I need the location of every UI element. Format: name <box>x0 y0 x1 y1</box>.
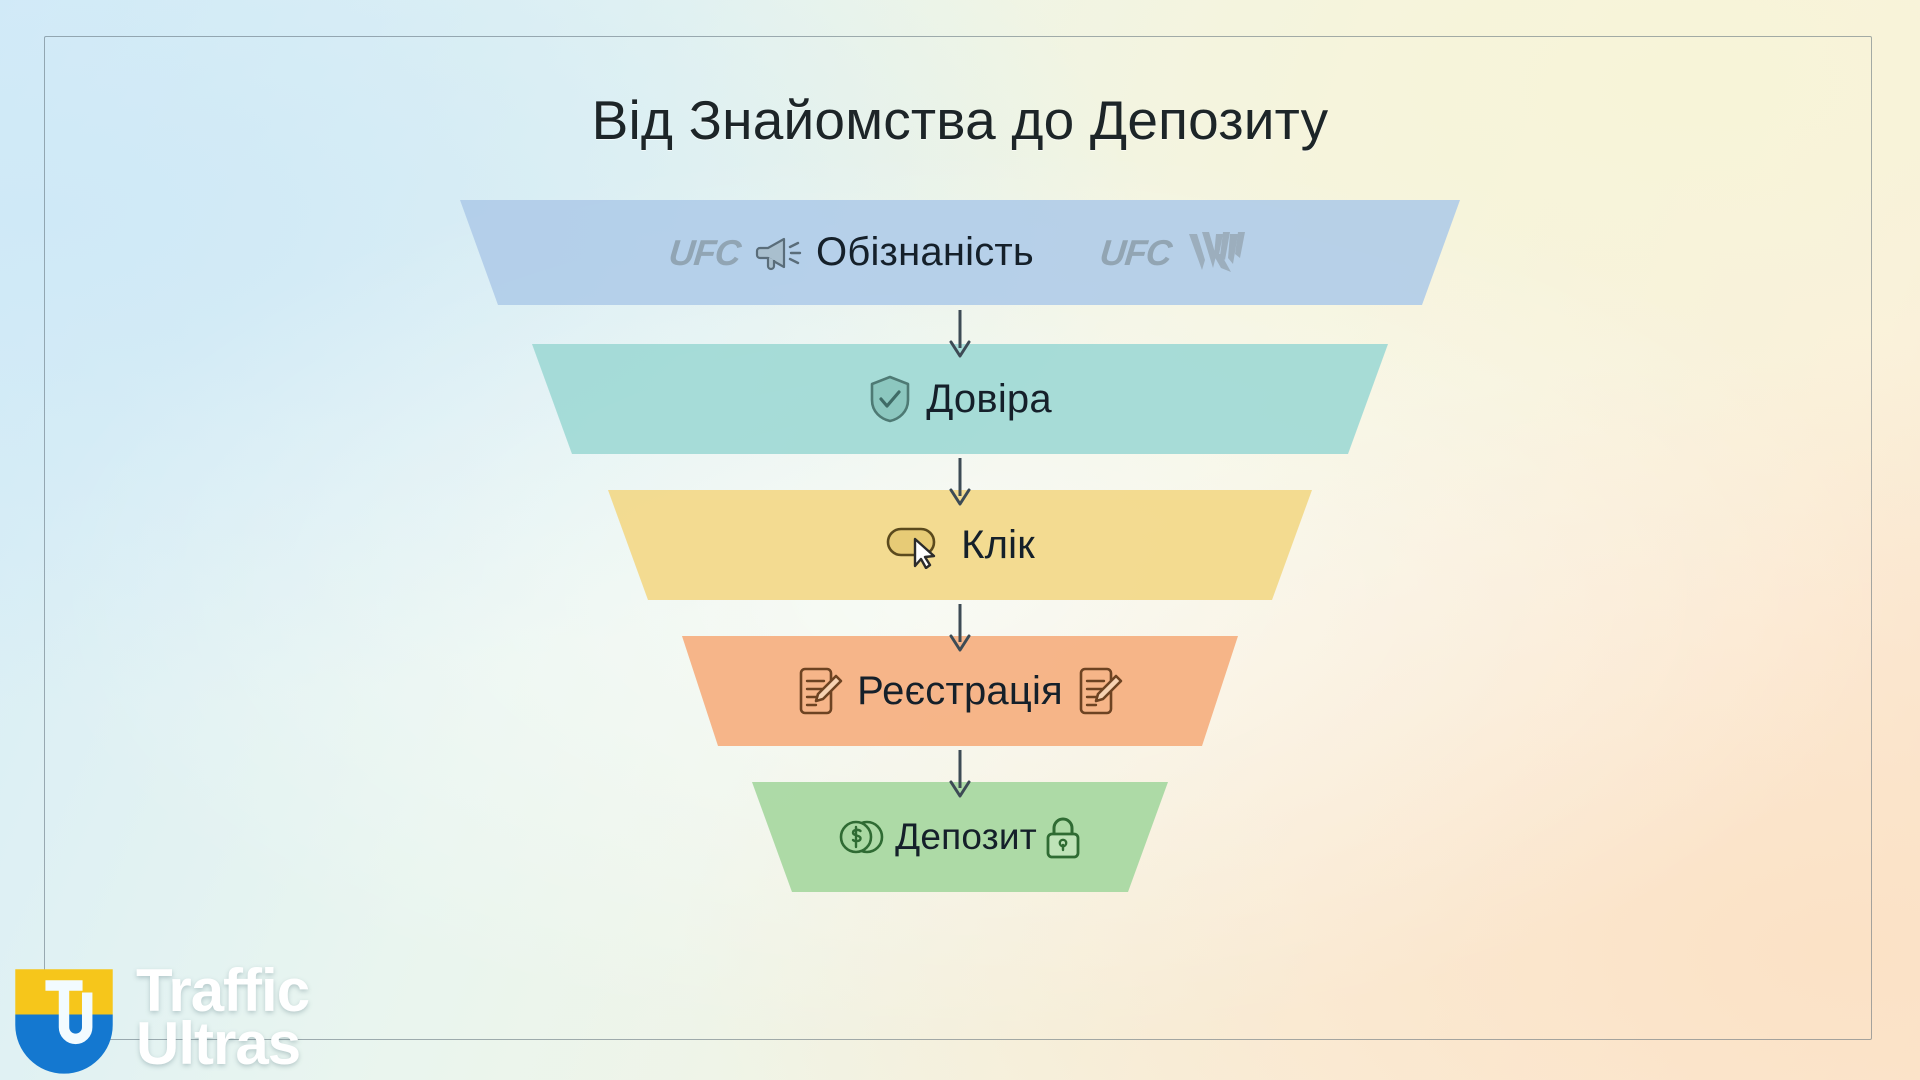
ufc-logo-text-right: UFC <box>1098 232 1173 274</box>
funnel-stage-label-trust: Довіра <box>926 377 1052 422</box>
funnel-stage-label-deposit: Депозит <box>895 816 1037 858</box>
wwe-logo-icon <box>1185 230 1251 276</box>
form-pencil-icon <box>797 666 843 716</box>
brand-group-right: UFC <box>1100 230 1251 276</box>
flow-arrow-3 <box>947 602 973 654</box>
brand-logo: Traffic Ultras <box>6 960 309 1076</box>
shield-check-icon <box>868 374 912 424</box>
cursor-button-icon <box>885 521 947 569</box>
ufc-logo-text: UFC <box>667 232 742 274</box>
brand-ufc-left: UFC <box>669 232 740 274</box>
funnel-stage-trust[interactable]: Довіра <box>460 344 1460 454</box>
flow-arrow-2 <box>947 456 973 508</box>
flow-arrow-4 <box>947 748 973 800</box>
logo-line-2: Ultras <box>136 1018 309 1071</box>
lock-icon <box>1043 814 1083 860</box>
megaphone-icon <box>754 232 802 274</box>
flow-arrow-1 <box>947 308 973 360</box>
funnel-stage-label-awareness: Обізнаність <box>816 230 1034 275</box>
page-title: Від Знайомства до Депозиту <box>0 88 1920 152</box>
conversion-funnel-diagram: UFC Обізнаність UFC <box>460 200 1460 1000</box>
traffic-ultras-monogram-icon <box>6 960 122 1076</box>
funnel-stage-label-registration: Реєстрація <box>857 669 1063 714</box>
coins-dollar-icon <box>837 815 889 859</box>
funnel-stage-label-click: Клік <box>961 523 1035 568</box>
funnel-stage-awareness[interactable]: UFC Обізнаність UFC <box>460 200 1460 305</box>
form-pencil-icon-right <box>1077 666 1123 716</box>
